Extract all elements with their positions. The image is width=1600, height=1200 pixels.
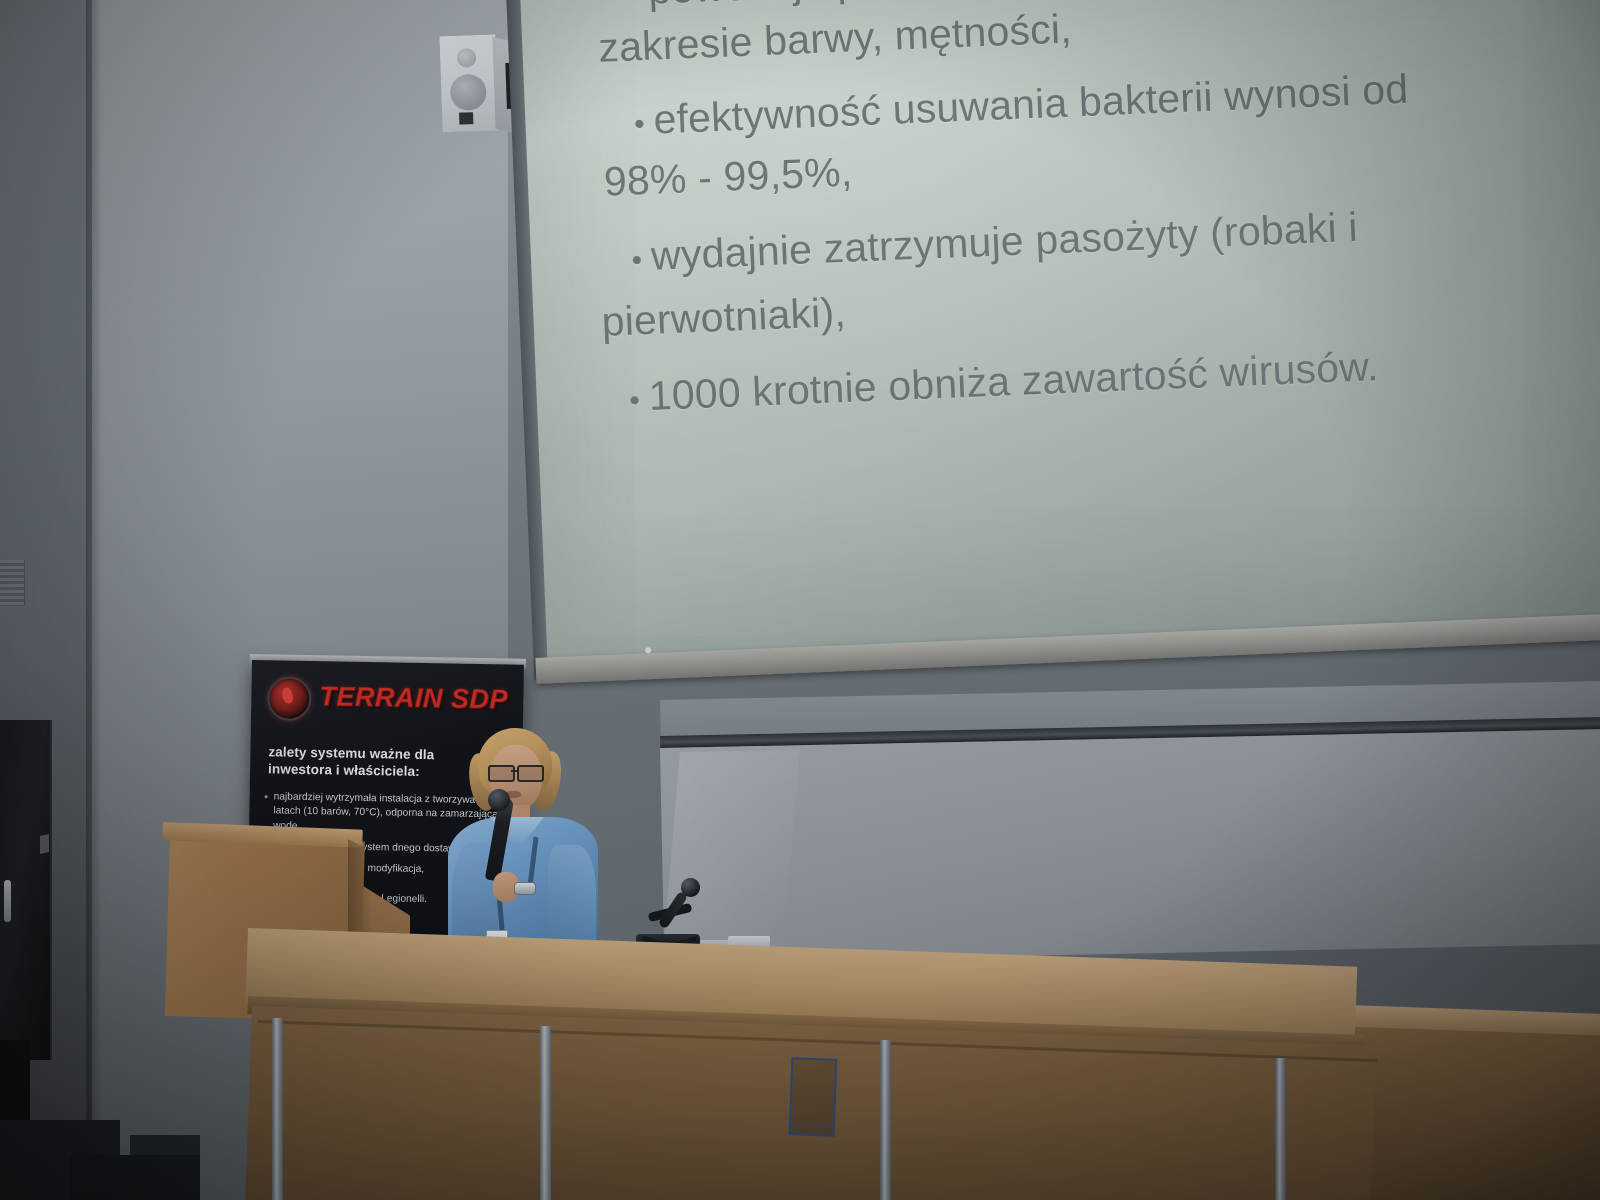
desk-leg bbox=[880, 1040, 891, 1200]
slide-bullet-3: ●wydajnie zatrzymuje pasożyty (robaki i bbox=[630, 204, 1359, 281]
banner-brand-title: TERRAIN SDP bbox=[319, 681, 508, 715]
speaker-port bbox=[459, 112, 473, 124]
slide-line-text: efektywność usuwania bakterii wynosi od bbox=[653, 66, 1410, 143]
slide-bullet-3-cont: pierwotniaki), bbox=[601, 289, 847, 346]
bullet-glyph: ● bbox=[631, 248, 643, 269]
bullet-glyph: ● bbox=[628, 0, 640, 4]
slide-bullet-2: ●efektywność usuwania bakterii wynosi od bbox=[633, 66, 1410, 145]
desk-microphone-head-icon bbox=[681, 878, 700, 897]
wall-vent-icon bbox=[0, 560, 25, 606]
door-frame-edge bbox=[40, 834, 49, 854]
slide-line-text: powoduje po bbox=[647, 0, 883, 13]
slide-bullet-2-cont: 98% - 99,5%, bbox=[603, 149, 853, 206]
terrain-logo-icon bbox=[267, 676, 312, 721]
door-handle[interactable] bbox=[4, 880, 11, 922]
slide-bullet-4: ●1000 krotnie obniża zawartość wirusów. bbox=[628, 343, 1379, 421]
slide-line-text: pierwotniaki), bbox=[601, 289, 847, 345]
whiteboard-glare bbox=[663, 750, 800, 953]
bullet-glyph: ● bbox=[628, 389, 640, 410]
bullet-glyph: ● bbox=[633, 112, 645, 133]
glasses-lens-left bbox=[488, 765, 515, 782]
stair-step bbox=[70, 1155, 200, 1200]
slide-line-text: wydajnie zatrzymuje pasożyty (robaki i bbox=[650, 204, 1358, 279]
desk-leg bbox=[272, 1018, 283, 1200]
slide-bullet-1-cont: zakresie barwy, mętności, bbox=[597, 5, 1072, 71]
slide-content: ●powoduje po zakresie barwy, mętności, ●… bbox=[520, 0, 1600, 665]
slide-bullet-1: ●powoduje po bbox=[627, 0, 884, 15]
desk-leg bbox=[1275, 1058, 1286, 1200]
wristwatch bbox=[514, 882, 536, 895]
desk-leg bbox=[540, 1026, 551, 1200]
wall-speaker bbox=[438, 33, 517, 134]
glasses-icon bbox=[488, 765, 544, 778]
slide-line-text: 1000 krotnie obniża zawartość wirusów. bbox=[648, 343, 1379, 419]
whiteboard-surface bbox=[660, 729, 1600, 963]
presentation-photo: ●powoduje po zakresie barwy, mętności, ●… bbox=[0, 0, 1600, 1200]
wall-corner-shadow bbox=[86, 0, 102, 1200]
glasses-lens-right bbox=[517, 765, 544, 782]
presenter bbox=[430, 725, 600, 960]
desk-emblem bbox=[789, 1057, 838, 1137]
slide-line-text: 98% - 99,5%, bbox=[603, 149, 853, 205]
desk-emblem-artwork bbox=[797, 1065, 829, 1128]
slide-line-text: zakresie barwy, mętności, bbox=[597, 5, 1072, 70]
projection-screen: ●powoduje po zakresie barwy, mętności, ●… bbox=[520, 0, 1600, 689]
